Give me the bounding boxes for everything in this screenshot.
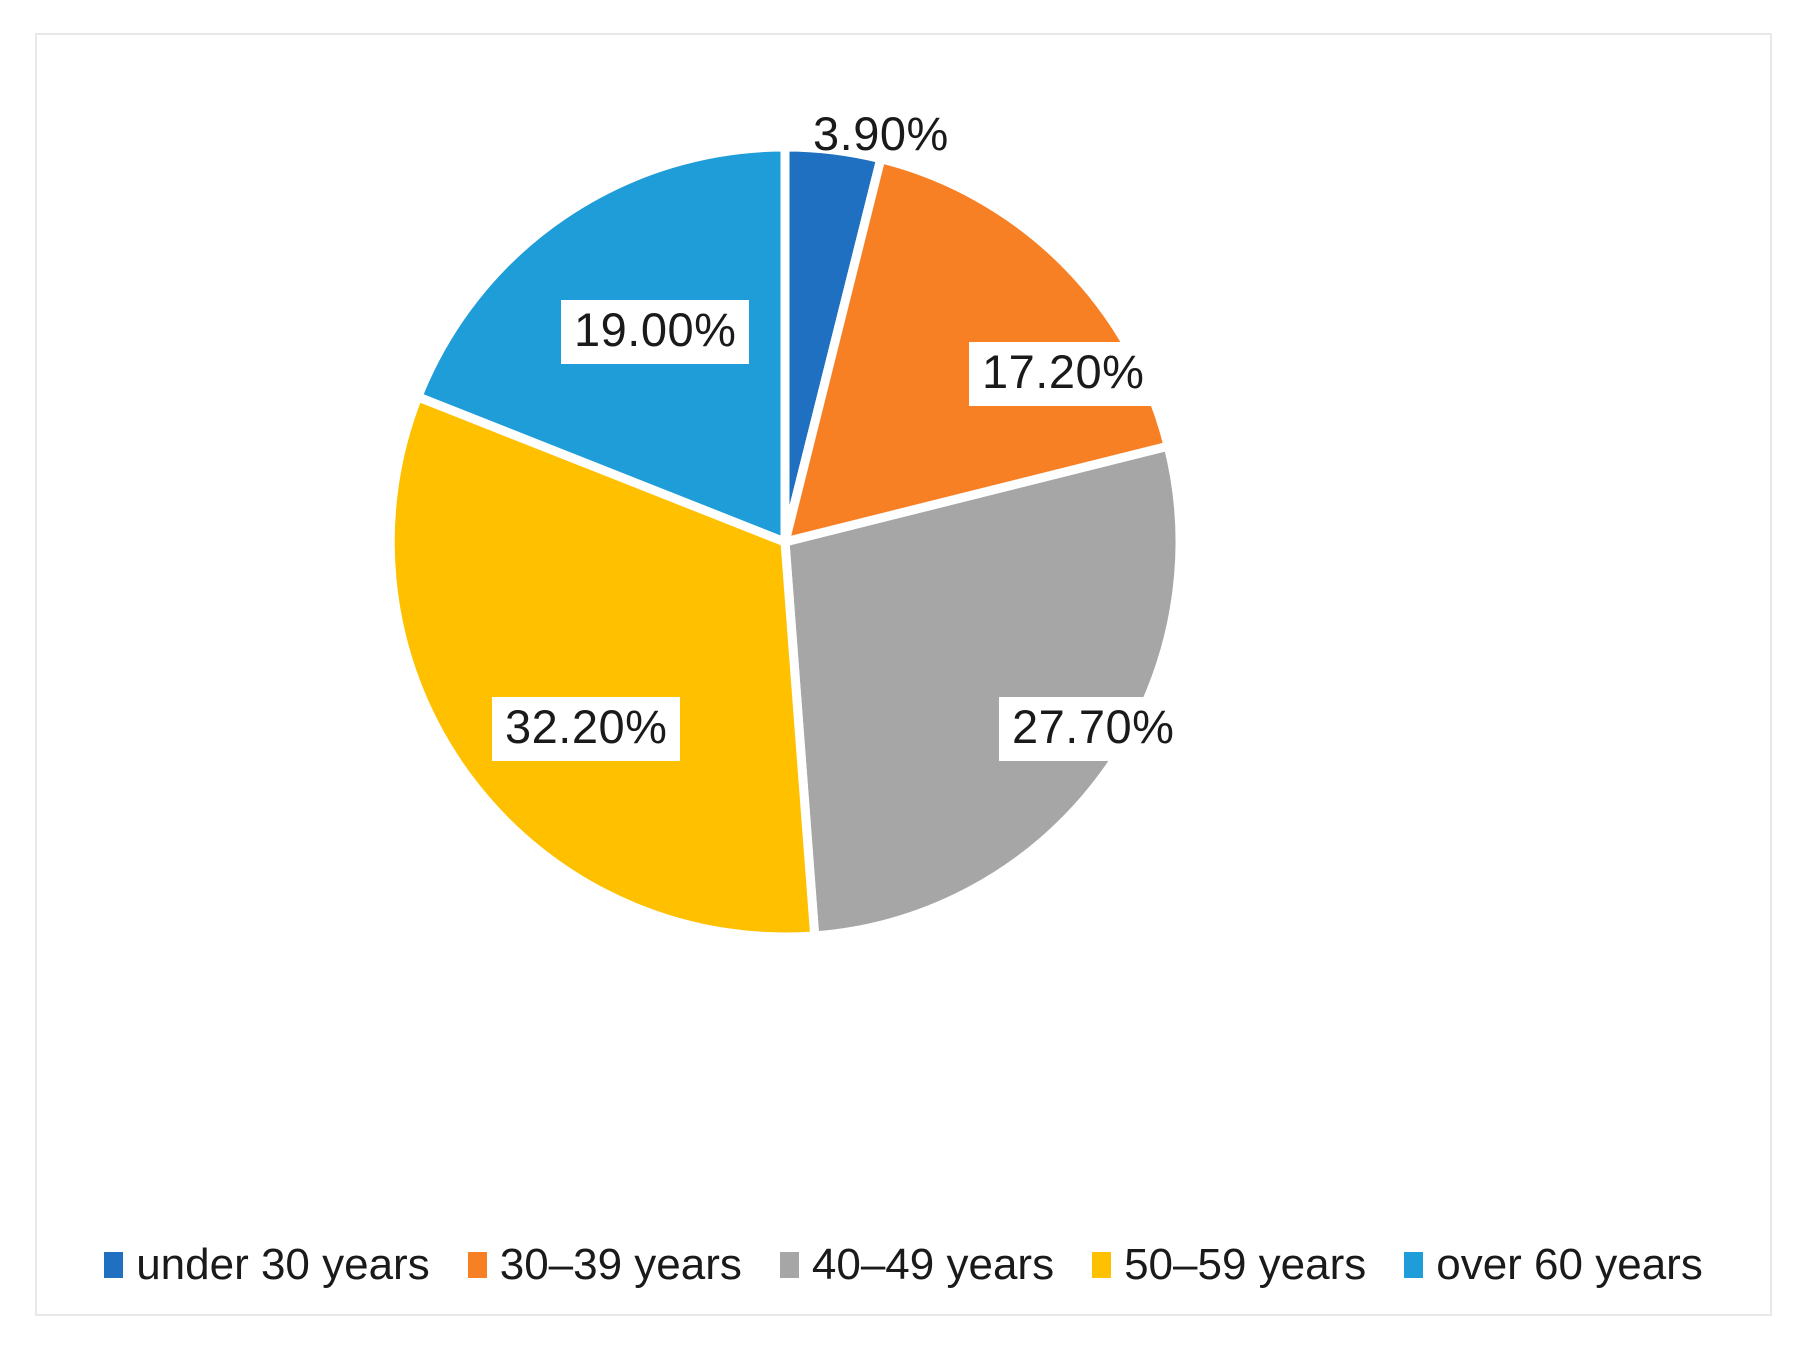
data-label-over-60-years: 19.00% [561, 300, 749, 364]
legend-item-40-49-years[interactable]: 40–49 years [780, 1243, 1054, 1287]
legend-item-30-39-years[interactable]: 30–39 years [468, 1243, 742, 1287]
legend-item-label: 30–39 years [500, 1243, 742, 1287]
legend-item-under-30-years[interactable]: under 30 years [104, 1243, 430, 1287]
data-label-30-39-years: 17.20% [969, 342, 1157, 406]
chart-legend: under 30 years 30–39 years 40–49 years 5… [37, 1243, 1770, 1287]
legend-item-50-59-years[interactable]: 50–59 years [1092, 1243, 1366, 1287]
legend-item-label: under 30 years [136, 1243, 430, 1287]
legend-item-label: 50–59 years [1124, 1243, 1366, 1287]
legend-swatch-icon [780, 1252, 799, 1278]
pie-slices [390, 147, 1180, 937]
legend-item-label: over 60 years [1436, 1243, 1703, 1287]
data-label-under-30-years: 3.90% [813, 109, 949, 160]
legend-item-over-60-years[interactable]: over 60 years [1404, 1243, 1703, 1287]
data-label-40-49-years: 27.70% [999, 697, 1187, 761]
legend-swatch-icon [1092, 1252, 1111, 1278]
data-label-50-59-years: 32.20% [492, 697, 680, 761]
pie-chart-svg [37, 35, 1770, 1314]
pie-chart-plot-area: 3.90% 17.20% 27.70% 32.20% 19.00% under … [37, 35, 1770, 1314]
legend-swatch-icon [104, 1252, 123, 1278]
chart-frame: 3.90% 17.20% 27.70% 32.20% 19.00% under … [35, 33, 1772, 1316]
legend-item-label: 40–49 years [812, 1243, 1054, 1287]
legend-swatch-icon [1404, 1252, 1423, 1278]
legend-swatch-icon [468, 1252, 487, 1278]
